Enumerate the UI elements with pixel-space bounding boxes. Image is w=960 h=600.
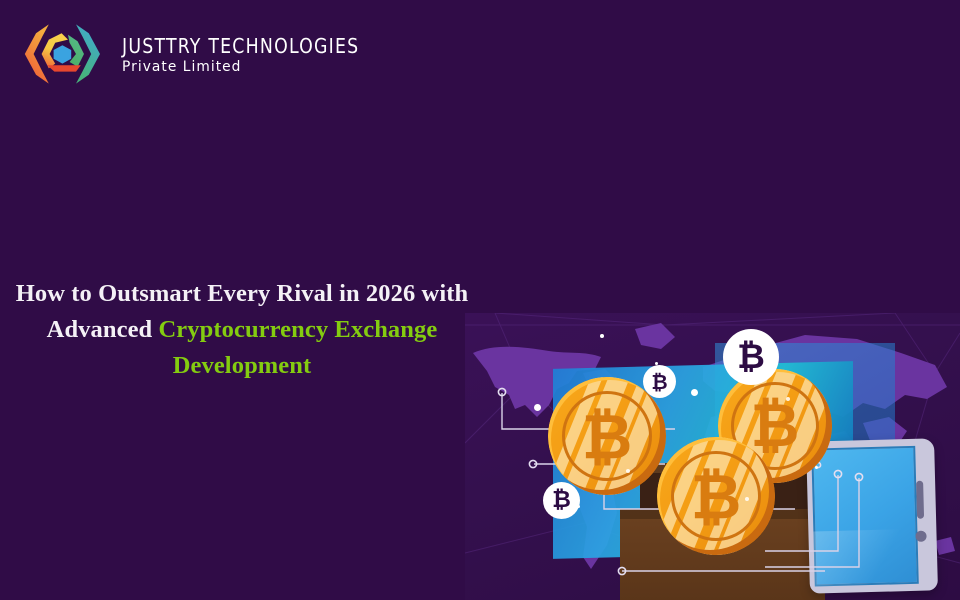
sparkle-dot — [534, 404, 541, 411]
brand-name: JUSTTRY TECHNOLOGIES — [122, 36, 359, 57]
bitcoin-badge-top: ₿ — [723, 329, 779, 385]
headline-line-2-accent: Cryptocurrency Exchange — [159, 316, 438, 343]
sparkle-dot — [600, 334, 604, 338]
bitcoin-symbol: ₿ — [582, 400, 633, 473]
cryptocurrency-exchange-illustration: ₿ ₿ — [465, 313, 960, 600]
bitcoin-symbol: ₿ — [651, 372, 667, 392]
page-title: How to Outsmart Every Rival in 2026 with… — [0, 276, 484, 384]
headline-line-2: Advanced Cryptocurrency Exchange — [0, 312, 484, 348]
bitcoin-symbol: ₿ — [691, 460, 742, 533]
headline-line-1: How to Outsmart Every Rival in 2026 with — [0, 276, 484, 312]
headline-line-3-accent: Development — [0, 348, 484, 384]
justtry-hexagon-logo-icon — [20, 22, 108, 86]
brand-logo[interactable]: JUSTTRY TECHNOLOGIES Private Limited — [20, 22, 375, 86]
bitcoin-badge-middle: ₿ — [643, 365, 676, 398]
bitcoin-coin-large-center: ₿ — [657, 437, 775, 555]
sparkle-dot — [691, 389, 698, 396]
bitcoin-symbol: ₿ — [737, 340, 765, 374]
headline-line-2-white: Advanced — [47, 316, 159, 343]
brand-legal-suffix: Private Limited — [122, 60, 362, 75]
bitcoin-badge-bottom-left: ₿ — [543, 482, 580, 519]
bitcoin-coin-large-left: ₿ — [548, 377, 666, 495]
brand-logo-text: JUSTTRY TECHNOLOGIES Private Limited — [122, 34, 375, 75]
bitcoin-symbol: ₿ — [552, 489, 571, 512]
